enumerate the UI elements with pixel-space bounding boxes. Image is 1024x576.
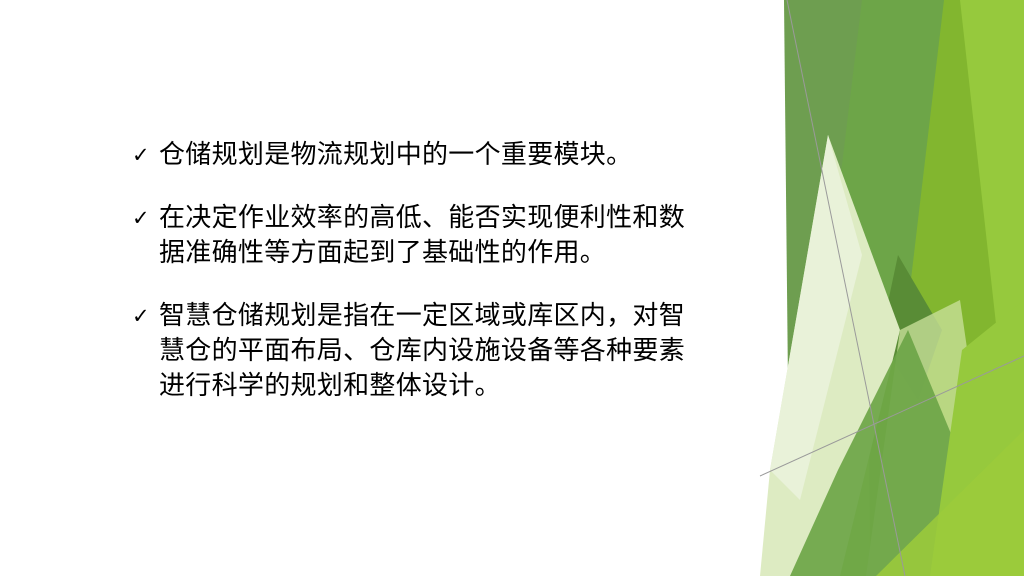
facet-shape-mid-green xyxy=(792,0,944,576)
facet-hairline-horizontal xyxy=(760,356,1024,476)
list-item-text: 在决定作业效率的高低、能否实现便利性和数 据准确性等方面起到了基础性的作用。 xyxy=(159,201,732,271)
list-item: ✓ 智慧仓储规划是指在一定区域或库区内，对智 慧仓的平面布局、仓库内设施设备等各… xyxy=(132,299,732,404)
checkmark-bullet-icon: ✓ xyxy=(132,201,159,236)
facet-shape-pale-sheet xyxy=(760,135,900,576)
checkmark-bullet-icon: ✓ xyxy=(132,138,159,173)
facet-shape-bottom-right-band xyxy=(930,300,1024,576)
list-item-text: 智慧仓储规划是指在一定区域或库区内，对智 慧仓的平面布局、仓库内设施设备等各种要… xyxy=(159,299,732,404)
facet-hairline-diagonal xyxy=(787,0,905,576)
facet-shape-dark-olive xyxy=(784,0,905,576)
facet-shape-bottom-accent xyxy=(876,430,1024,576)
checkmark-bullet-icon: ✓ xyxy=(132,299,159,334)
list-item: ✓ 在决定作业效率的高低、能否实现便利性和数 据准确性等方面起到了基础性的作用。 xyxy=(132,201,732,271)
facet-shape-bright-wedge xyxy=(866,0,1024,576)
facet-shape-bottom-slab xyxy=(790,330,1010,576)
facet-shape-pale-overlay xyxy=(866,300,1000,576)
slide-canvas: ✓ 仓储规划是物流规划中的一个重要模块。 ✓ 在决定作业效率的高低、能否实现便利… xyxy=(0,0,1024,576)
slide-content-body: ✓ 仓储规划是物流规划中的一个重要模块。 ✓ 在决定作业效率的高低、能否实现便利… xyxy=(132,138,732,404)
facet-shape-deep-green xyxy=(880,255,942,400)
list-item: ✓ 仓储规划是物流规划中的一个重要模块。 xyxy=(132,138,732,173)
facet-shape-lightest-sliver xyxy=(770,135,862,500)
list-item-text: 仓储规划是物流规划中的一个重要模块。 xyxy=(159,138,732,173)
facet-shape-base-right xyxy=(820,0,1024,576)
